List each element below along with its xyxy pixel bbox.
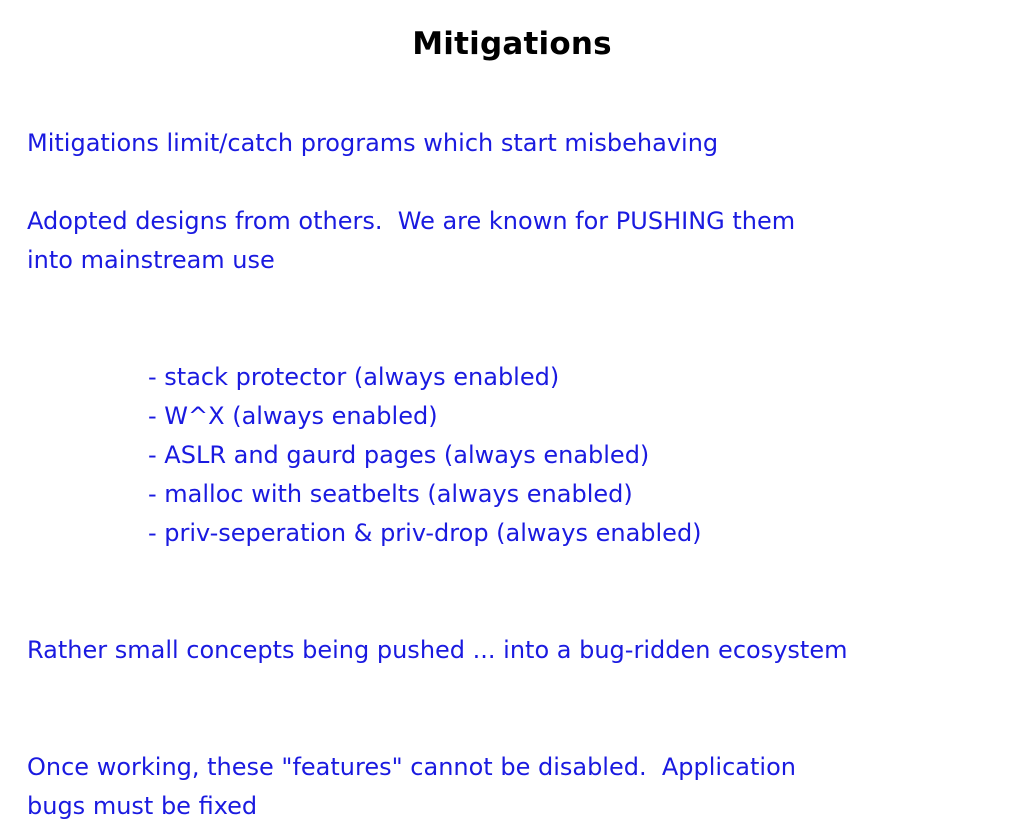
list-item: - W^X (always enabled) bbox=[27, 397, 987, 436]
list-item: - malloc with seatbelts (always enabled) bbox=[27, 475, 987, 514]
mitigations-list: - stack protector (always enabled) - W^X… bbox=[27, 358, 987, 553]
list-item: - priv-seperation & priv-drop (always en… bbox=[27, 514, 987, 553]
page-title: Mitigations bbox=[0, 26, 1024, 62]
paragraph-small-concepts: Rather small concepts being pushed ... i… bbox=[27, 631, 987, 670]
list-item: - ASLR and gaurd pages (always enabled) bbox=[27, 436, 987, 475]
paragraph-intro: Mitigations limit/catch programs which s… bbox=[27, 124, 987, 163]
list-item: - stack protector (always enabled) bbox=[27, 358, 987, 397]
paragraph-adopted-designs: Adopted designs from others. We are know… bbox=[27, 202, 987, 280]
paragraph-intro-line-1: Mitigations limit/catch programs which s… bbox=[27, 124, 987, 163]
paragraph-spacer bbox=[27, 670, 987, 709]
paragraph-spacer bbox=[27, 592, 987, 631]
paragraph-adopted-designs-line-2: into mainstream use bbox=[27, 241, 987, 280]
paragraph-once-working: Once working, these "features" cannot be… bbox=[27, 748, 987, 826]
slide-body: Mitigations limit/catch programs which s… bbox=[27, 124, 987, 826]
paragraph-spacer bbox=[27, 163, 987, 202]
paragraph-spacer bbox=[27, 280, 987, 319]
paragraph-small-concepts-line-1: Rather small concepts being pushed ... i… bbox=[27, 631, 987, 670]
paragraph-spacer bbox=[27, 553, 987, 592]
paragraph-spacer bbox=[27, 319, 987, 358]
paragraph-once-working-line-2: bugs must be fixed bbox=[27, 787, 987, 826]
slide-canvas: Mitigations Mitigations limit/catch prog… bbox=[0, 0, 1024, 768]
paragraph-spacer bbox=[27, 709, 987, 748]
paragraph-adopted-designs-line-1: Adopted designs from others. We are know… bbox=[27, 202, 987, 241]
